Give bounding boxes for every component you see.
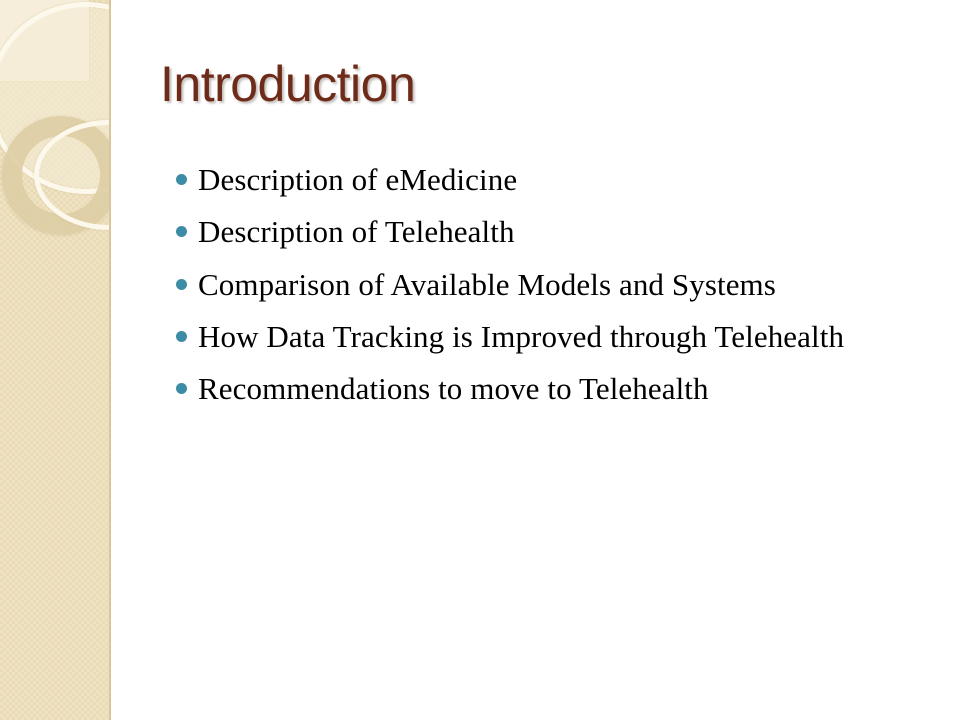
list-item: Description of eMedicine [170, 160, 932, 200]
bullet-dot-icon [176, 331, 187, 342]
list-item: Comparison of Available Models and Syste… [170, 265, 932, 305]
bullet-list: Description of eMedicine Description of … [170, 160, 932, 421]
list-item: Recommendations to move to Telehealth [170, 369, 932, 409]
bullet-dot-icon [176, 226, 187, 237]
bullet-dot-icon [176, 383, 187, 394]
sidebar-decoration [0, 0, 111, 720]
bullet-dot-icon [176, 279, 187, 290]
presentation-slide: Introduction Description of eMedicine De… [0, 0, 960, 720]
bullet-dot-icon [176, 174, 187, 185]
list-item: Description of Telehealth [170, 212, 932, 252]
list-item-text: Description of eMedicine [198, 160, 517, 200]
list-item-text: Recommendations to move to Telehealth [198, 369, 709, 409]
slide-title: Introduction [160, 58, 415, 111]
list-item-text: How Data Tracking is Improved through Te… [198, 317, 844, 357]
list-item-text: Comparison of Available Models and Syste… [198, 265, 776, 305]
list-item: How Data Tracking is Improved through Te… [170, 317, 932, 357]
list-item-text: Description of Telehealth [198, 212, 515, 252]
